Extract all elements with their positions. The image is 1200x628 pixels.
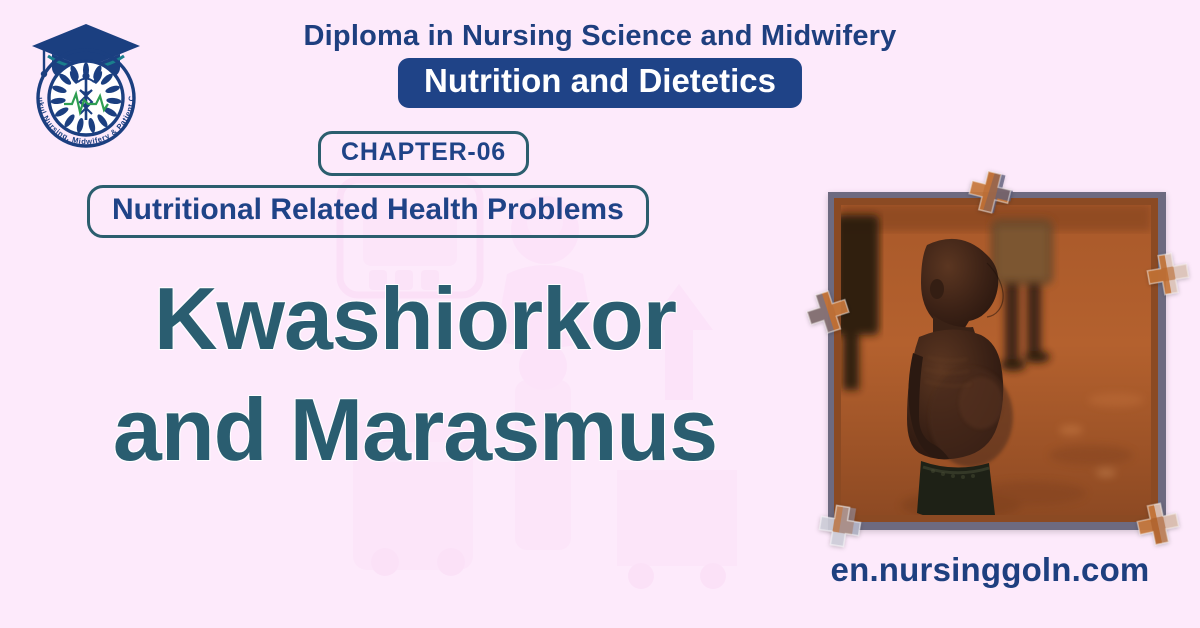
course-title: Diploma in Nursing Science and Midwifery — [0, 20, 1200, 53]
page-title: Kwashiorkor and Marasmus — [0, 264, 830, 486]
photo-frame — [828, 192, 1166, 530]
page-title-line-2: and Marasmus — [0, 375, 830, 486]
photo-inner-border — [834, 198, 1158, 522]
topic-badge: Nutritional Related Health Problems — [87, 185, 649, 238]
poster-canvas: Gurukul Nursing, Midwifery & Patient Car… — [0, 0, 1200, 628]
page-title-line-1: Kwashiorkor — [0, 264, 830, 375]
subject-badge: Nutrition and Dietetics — [398, 58, 802, 108]
chapter-badge: CHAPTER-06 — [318, 131, 529, 176]
malnourished-child-photo — [841, 205, 1151, 515]
website-url[interactable]: en.nursinggoln.com — [790, 551, 1190, 589]
